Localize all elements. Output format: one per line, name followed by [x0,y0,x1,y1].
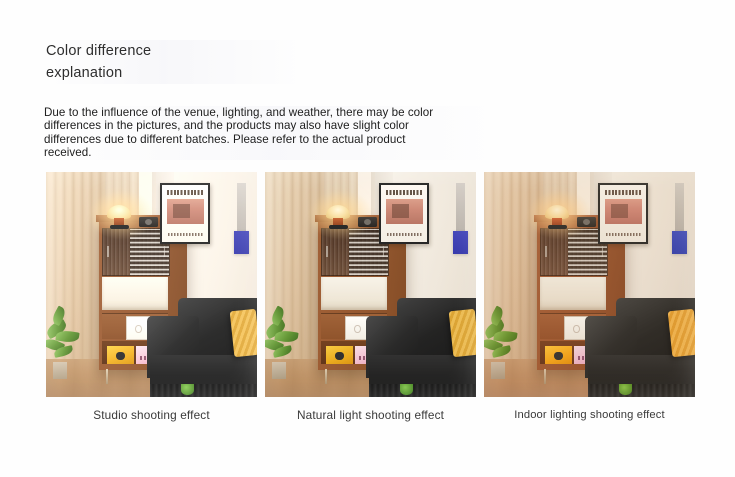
poster-title-text [167,190,204,195]
black-leather-sofa [585,294,695,398]
poster-caption-text [387,233,422,236]
poster-caption-text [606,233,641,236]
sofa-seat-cushion [150,355,257,386]
shelf-book-yellow [545,346,572,364]
camera-object [358,217,377,227]
caption-natural: Natural light shooting effect [265,404,476,426]
green-cup [181,384,194,395]
green-cup [400,384,413,395]
color-difference-page: Color difference explanation Due to the … [0,0,735,477]
shelf-book-yellow [107,346,134,364]
grey-panel-art [456,183,465,230]
yellow-striped-pillow [449,309,476,357]
potted-plant [265,307,309,379]
cabinet-handle-left [545,246,547,258]
camera-object [577,217,596,227]
disclaimer-line-1: Due to the influence of the venue, light… [44,106,506,119]
green-cup [619,384,632,395]
plant-pot [272,362,286,379]
blue-rectangle-art [453,231,468,255]
photo-captions: Studio shooting effect Natural light sho… [46,404,695,426]
black-leather-sofa [366,294,476,398]
cabinet-handle-left [326,246,328,258]
room-scene [484,172,695,397]
disclaimer-line-2: differences in the pictures, and the pro… [44,119,506,132]
plant-pot [491,362,505,379]
page-title-line-1: Color difference [46,40,306,62]
page-title-line-2: explanation [46,62,306,84]
grey-panel-art [237,183,246,230]
poster-title-text [386,190,423,195]
photo-gallery [46,172,695,397]
blue-rectangle-art [672,231,687,255]
sofa-skirt [369,384,476,397]
sofa-seat-cushion [588,355,695,386]
potted-plant [484,307,528,379]
sofa-skirt [150,384,257,397]
poster-artwork [167,199,204,224]
grey-panel-art [675,183,684,230]
plant-pot [53,362,67,379]
table-lamp-foot [110,225,129,229]
disclaimer-line-4: received. [44,146,506,159]
poster-artwork [605,199,642,224]
poster-title-text [605,190,642,195]
cabinet-handle-right [602,246,604,258]
cabinet-leg-left [106,369,108,384]
photo-panel-studio [46,172,257,397]
caption-studio: Studio shooting effect [46,404,257,426]
photo-panel-natural-light [265,172,476,397]
page-title: Color difference explanation [46,40,306,84]
sofa-seat-cushion [369,355,476,386]
disclaimer-line-3: differences due to different batches. Pl… [44,133,506,146]
cabinet-handle-left [107,246,109,258]
yellow-striped-pillow [668,309,695,357]
potted-plant [46,307,90,379]
poster-caption-text [168,233,203,236]
shelf-book-yellow [326,346,353,364]
disclaimer-paragraph: Due to the influence of the venue, light… [44,106,506,160]
cabinet-leg-left [544,369,546,384]
caption-indoor: Indoor lighting shooting effect [484,404,695,426]
poster-artwork [386,199,423,224]
room-scene [265,172,476,397]
black-leather-sofa [147,294,257,398]
sofa-skirt [588,384,695,397]
camera-object [139,217,158,227]
table-lamp-foot [548,225,567,229]
blue-rectangle-art [234,231,249,255]
bauhaus-poster [379,183,429,243]
cabinet-handle-right [383,246,385,258]
cabinet-leg-left [325,369,327,384]
room-scene [46,172,257,397]
photo-panel-indoor-lighting [484,172,695,397]
bauhaus-poster [160,183,210,243]
table-lamp-foot [329,225,348,229]
cabinet-handle-right [164,246,166,258]
bauhaus-poster [598,183,648,243]
yellow-striped-pillow [230,309,257,357]
